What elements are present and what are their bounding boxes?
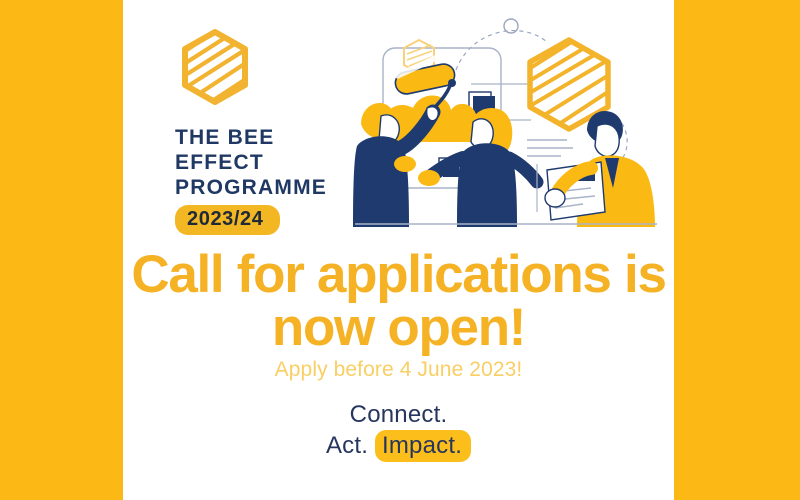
promotional-poster: THE BEE EFFECT PROGRAMME 2023/24: [0, 0, 800, 500]
headline-line-2: now open!: [123, 301, 674, 354]
tagline-row-2: Act. Impact.: [123, 431, 674, 460]
hand-left: [394, 156, 416, 172]
hand-right: [545, 189, 565, 207]
deadline-subline: Apply before 4 June 2023!: [123, 358, 674, 382]
programme-logo: THE BEE EFFECT PROGRAMME 2023/24: [163, 25, 373, 235]
logo-line-3: PROGRAMME: [175, 175, 373, 200]
tagline-word-impact: Impact.: [375, 430, 471, 462]
logo-line-1: THE BEE: [175, 125, 373, 150]
year-badge: 2023/24: [175, 205, 280, 235]
person-right: [545, 111, 655, 227]
logo-line-2: EFFECT: [175, 150, 373, 175]
circle-node-icon: [504, 19, 518, 33]
poster-content-area: THE BEE EFFECT PROGRAMME 2023/24: [123, 0, 674, 500]
tagline-word-connect: Connect.: [350, 401, 448, 428]
person-left: [353, 103, 438, 227]
right-yellow-band: [674, 0, 800, 500]
text-lines-decoration: [527, 140, 573, 156]
headline-line-1: Call for applications is: [131, 245, 665, 304]
left-yellow-band: [0, 0, 123, 500]
tagline: Connect. Act. Impact.: [123, 400, 674, 460]
striped-hexagon-logo-icon: [175, 25, 255, 115]
tagline-word-act: Act.: [326, 432, 368, 459]
hand-middle: [418, 170, 440, 186]
logo-wordmark: THE BEE EFFECT PROGRAMME: [175, 125, 373, 200]
headline: Call for applications is now open!: [123, 248, 674, 354]
team-collaboration-illustration: [351, 12, 661, 227]
face-right: [595, 124, 619, 156]
